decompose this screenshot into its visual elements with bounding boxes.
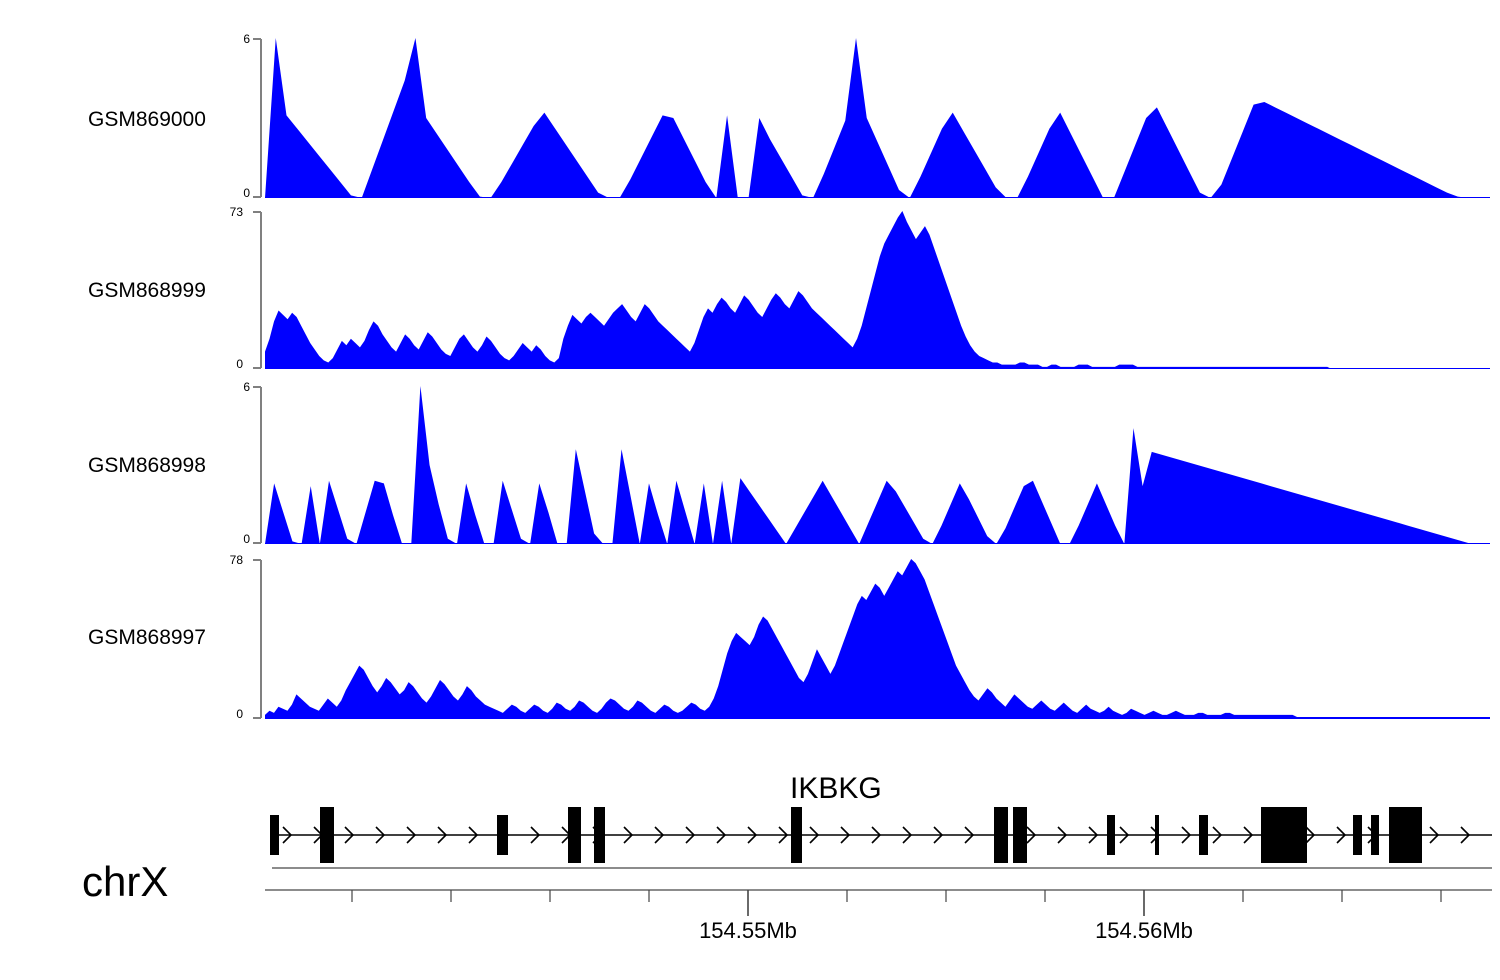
- track-plot-3: [265, 559, 1490, 719]
- chromosome-label: chrX: [82, 858, 168, 906]
- gene-model-track[interactable]: [260, 800, 1492, 870]
- track-ymax-0: 6: [210, 32, 250, 46]
- genome-browser-view: GSM869000 6 0 GSM868999 73 0 GSM868998 6…: [0, 0, 1500, 980]
- track-plot-1: [265, 211, 1490, 369]
- track-axis-3: [253, 559, 265, 719]
- track-ymax-1: 73: [203, 205, 243, 219]
- ruler-tick-label-0: 154.55Mb: [628, 918, 868, 944]
- track-ymax-2: 6: [210, 380, 250, 394]
- track-ymax-3: 78: [203, 553, 243, 567]
- track-label-1: GSM868999: [88, 279, 206, 303]
- track-axis-2: [253, 386, 265, 544]
- track-axis-0: [253, 38, 265, 198]
- track-plot-0: [265, 38, 1490, 198]
- track-label-2: GSM868998: [88, 454, 206, 478]
- track-label-0: GSM869000: [88, 108, 206, 132]
- track-ymin-0: 0: [210, 186, 250, 200]
- track-plot-2: [265, 386, 1490, 544]
- track-ymin-2: 0: [210, 532, 250, 546]
- track-ymin-1: 0: [203, 357, 243, 371]
- ruler-tick-label-1: 154.56Mb: [1024, 918, 1264, 944]
- track-ymin-3: 0: [203, 707, 243, 721]
- track-axis-1: [253, 211, 265, 369]
- track-label-3: GSM868997: [88, 626, 206, 650]
- genomic-ruler[interactable]: [260, 878, 1495, 918]
